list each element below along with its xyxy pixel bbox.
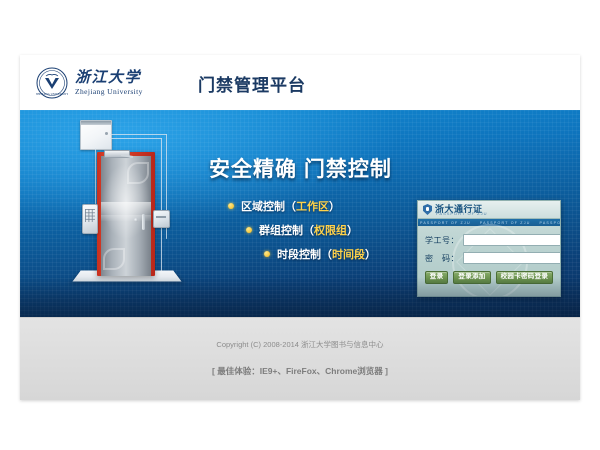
logo-title-en: Zhejiang University	[75, 88, 143, 96]
controller-box-icon	[80, 120, 112, 150]
feature-item-group-control: 群组控制（ 权限组 ）	[246, 222, 376, 238]
door-ornament-top-right	[127, 162, 149, 184]
bullet-icon	[228, 203, 234, 209]
door-closer-arm	[104, 150, 130, 158]
strip-text: PASSPORT OF ZJU	[480, 221, 531, 225]
browser-tip-text: [ 最佳体验：IE9+、FireFox、Chrome浏览器 ]	[20, 365, 580, 377]
userid-input[interactable]	[463, 234, 561, 246]
page-root: ZHEJIANG UNIVERSITY 浙江大学 Zhejiang Univer…	[0, 0, 600, 450]
keypad-reader-icon	[82, 204, 98, 234]
door-panel	[101, 156, 151, 276]
feature-item-time-control: 时段控制（ 时间段 ）	[264, 246, 376, 262]
site-logo[interactable]: ZHEJIANG UNIVERSITY 浙江大学 Zhejiang Univer…	[36, 66, 143, 100]
strip-text: PASSPORT OF ZJU	[420, 221, 471, 225]
feature-item-area-control: 区域控制（ 工作区 ）	[228, 198, 376, 214]
login-panel-strip: PASSPORT OF ZJU PASSPORT OF ZJU PASSPORT…	[418, 219, 560, 226]
wire-to-keypad	[95, 148, 96, 204]
login-panel-header: 浙大通行证 PASSPORT OF ZJU	[418, 201, 560, 219]
feature-highlight: 权限组	[314, 222, 347, 238]
feature-highlight: 时间段	[332, 246, 365, 262]
door-handle-icon	[142, 214, 145, 230]
site-card: ZHEJIANG UNIVERSITY 浙江大学 Zhejiang Univer…	[20, 55, 580, 400]
feature-tail: ）	[347, 222, 358, 238]
banner-bottom-shade	[20, 277, 580, 317]
banner-slogan: 安全精确 门禁控制	[209, 153, 392, 183]
login-panel-subtitle: PASSPORT OF ZJU	[436, 211, 487, 216]
card-reader-icon	[153, 210, 170, 228]
userid-label: 学工号：	[425, 235, 459, 246]
zju-seal-icon: ZHEJIANG UNIVERSITY	[36, 67, 68, 99]
logo-text-block: 浙江大学 Zhejiang University	[75, 71, 143, 96]
shield-icon	[423, 204, 432, 215]
wire-right-2	[161, 138, 162, 272]
feature-tail: ）	[329, 198, 340, 214]
hero-banner: 安全精确 门禁控制 区域控制（ 工作区 ） 群组控制（ 权限组 ） 时段控制（	[20, 110, 580, 317]
site-header: ZHEJIANG UNIVERSITY 浙江大学 Zhejiang Univer…	[20, 55, 580, 110]
feature-highlight: 工作区	[296, 198, 329, 214]
feature-label: 群组控制（	[259, 222, 314, 238]
form-row-password: 密 码：	[425, 252, 553, 264]
door-ornament-bottom-left	[103, 248, 125, 270]
copyright-text: Copyright (C) 2008-2014 浙江大学图书与信息中心	[20, 339, 580, 350]
keypad-buttons-grid	[85, 209, 95, 222]
wire-top-1	[110, 134, 167, 135]
door-lock-dot	[134, 218, 138, 222]
card-bottom-edge	[20, 399, 580, 400]
strip-text: PASSPORT OF ZJU	[540, 221, 561, 225]
feature-list: 区域控制（ 工作区 ） 群组控制（ 权限组 ） 时段控制（ 时间段 ）	[228, 198, 376, 270]
svg-text:ZHEJIANG UNIVERSITY: ZHEJIANG UNIVERSITY	[36, 92, 68, 96]
wire-top-2	[110, 138, 162, 139]
logo-title-cn: 浙江大学	[75, 71, 143, 86]
login-form: 学工号： 密 码： 登录 登录添加 校园卡密码登录	[418, 226, 560, 284]
password-input[interactable]	[463, 252, 561, 264]
access-control-door-illustration	[52, 116, 212, 302]
page-title: 门禁管理平台	[198, 71, 306, 96]
form-row-userid: 学工号：	[425, 234, 553, 246]
feature-label: 区域控制（	[241, 198, 296, 214]
bullet-icon	[246, 227, 252, 233]
feature-label: 时段控制（	[277, 246, 332, 262]
door-frame	[97, 152, 155, 276]
feature-tail: ）	[365, 246, 376, 262]
site-footer: Copyright (C) 2008-2014 浙江大学图书与信息中心 [ 最佳…	[20, 317, 580, 400]
bullet-icon	[264, 251, 270, 257]
password-label: 密 码：	[425, 253, 459, 264]
